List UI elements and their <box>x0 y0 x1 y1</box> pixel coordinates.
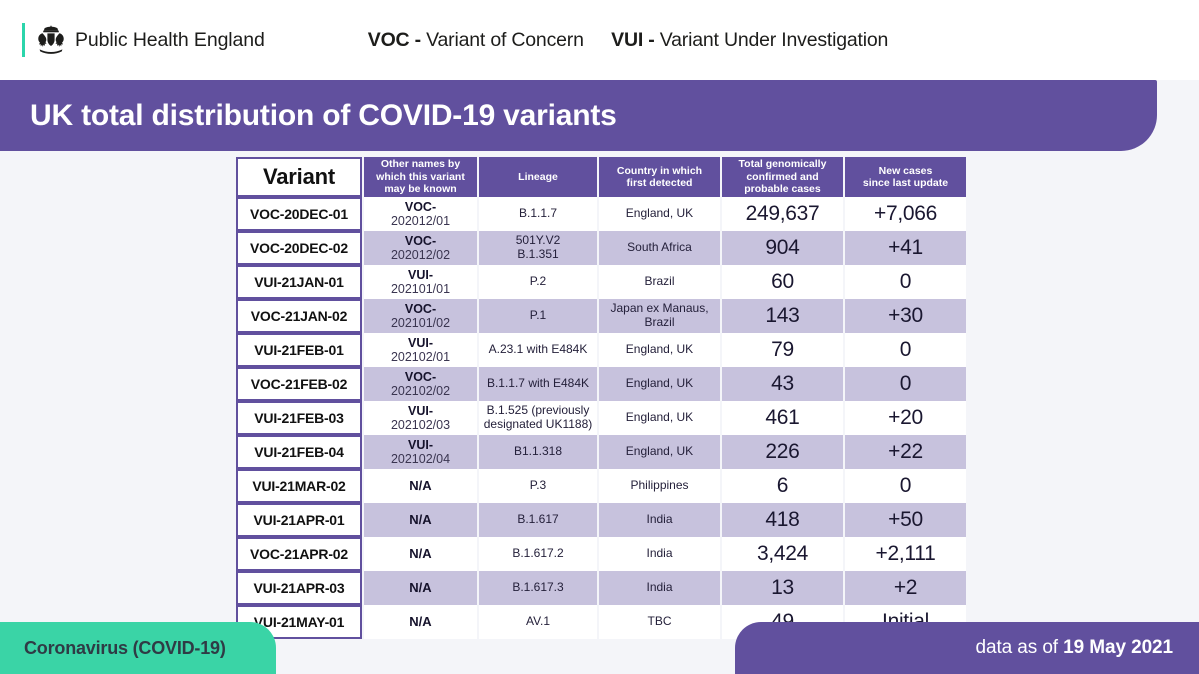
cell-new-cases: 0 <box>845 333 966 367</box>
cell-other-names: VUI-202101/01 <box>364 265 477 299</box>
cell-lineage: B.1.1.7 with E484K <box>479 367 597 401</box>
phe-logo-text: Public Health England <box>75 29 265 52</box>
other-names-suffix: 202012/02 <box>364 248 477 262</box>
other-names-prefix: VUI- <box>364 404 477 418</box>
cell-variant: VOC-21JAN-02 <box>236 299 362 333</box>
cell-variant: VUI-21APR-01 <box>236 503 362 537</box>
country-line2: first detected <box>599 177 720 189</box>
voc-definition: Variant of Concern <box>426 29 584 51</box>
cell-variant: VOC-21FEB-02 <box>236 367 362 401</box>
cell-country: England, UK <box>599 197 720 231</box>
other-names-prefix: VOC- <box>364 302 477 316</box>
cell-total-cases: 6 <box>722 469 843 503</box>
cell-lineage: P.1 <box>479 299 597 333</box>
cell-new-cases: +2 <box>845 571 966 605</box>
cell-lineage: P.3 <box>479 469 597 503</box>
cell-other-names: VOC-202102/02 <box>364 367 477 401</box>
cell-other-names: N/A <box>364 605 477 639</box>
cell-other-names: N/A <box>364 537 477 571</box>
voc-abbr: VOC - <box>368 29 421 51</box>
table-row: VOC-21APR-02N/AB.1.617.2India3,424+2,111 <box>236 537 966 571</box>
other-names-suffix: 202102/01 <box>364 350 477 364</box>
table-body: VOC-20DEC-01VOC-202012/01B.1.1.7England,… <box>236 197 966 639</box>
cell-country: India <box>599 571 720 605</box>
footer-asof-prefix: data as of <box>976 637 1064 658</box>
cell-variant: VOC-21APR-02 <box>236 537 362 571</box>
cell-lineage: B.1.525 (previouslydesignated UK1188) <box>479 401 597 435</box>
top-header-bar: Public Health England VOC - Variant of C… <box>0 0 1199 80</box>
table-row: VUI-21JAN-01VUI-202101/01P.2Brazil600 <box>236 265 966 299</box>
country-value-line1: Japan ex Manaus, <box>599 302 720 316</box>
lineage-line2: designated UK1188) <box>479 418 597 432</box>
cell-new-cases: 0 <box>845 367 966 401</box>
cell-new-cases: +30 <box>845 299 966 333</box>
column-header-variant: Variant <box>236 157 362 197</box>
table-row: VOC-21JAN-02VOC-202101/02P.1Japan ex Man… <box>236 299 966 333</box>
cell-lineage: B.1.1.7 <box>479 197 597 231</box>
cell-new-cases: +41 <box>845 231 966 265</box>
table-row: VUI-21FEB-04VUI-202102/04B1.1.318England… <box>236 435 966 469</box>
country-value-line2: Brazil <box>599 316 720 330</box>
column-header-total-cases: Total genomically confirmed and probable… <box>722 157 843 197</box>
footer-date-bar: data as of 19 May 2021 <box>735 622 1199 674</box>
cell-variant: VUI-21FEB-01 <box>236 333 362 367</box>
cell-new-cases: 0 <box>845 265 966 299</box>
table-row: VUI-21MAR-02N/AP.3Philippines60 <box>236 469 966 503</box>
total-line1: Total genomically <box>722 158 843 170</box>
variants-table-container: Variant Other names by which this varian… <box>234 157 964 639</box>
other-names-suffix: 202012/01 <box>364 214 477 228</box>
total-line2: confirmed and <box>722 171 843 183</box>
cell-variant: VUI-21JAN-01 <box>236 265 362 299</box>
cell-variant: VOC-20DEC-02 <box>236 231 362 265</box>
other-names-suffix: 202101/02 <box>364 316 477 330</box>
cell-lineage: AV.1 <box>479 605 597 639</box>
cell-total-cases: 3,424 <box>722 537 843 571</box>
cell-other-names: VUI-202102/01 <box>364 333 477 367</box>
cell-lineage: A.23.1 with E484K <box>479 333 597 367</box>
lineage-line1: B.1.525 (previously <box>479 404 597 418</box>
cell-lineage: B.1.617.2 <box>479 537 597 571</box>
footer-data-as-of: data as of 19 May 2021 <box>976 637 1173 659</box>
other-names-prefix: VOC- <box>364 200 477 214</box>
cell-country: Japan ex Manaus,Brazil <box>599 299 720 333</box>
table-row: VOC-20DEC-01VOC-202012/01B.1.1.7England,… <box>236 197 966 231</box>
cell-lineage: P.2 <box>479 265 597 299</box>
royal-crest-icon <box>36 24 66 56</box>
cell-country: South Africa <box>599 231 720 265</box>
lineage-line2: B.1.351 <box>479 248 597 262</box>
footer-coronavirus-label: Coronavirus (COVID-19) <box>24 638 226 659</box>
column-header-other-names: Other names by which this variant may be… <box>364 157 477 197</box>
table-row: VOC-21FEB-02VOC-202102/02B.1.1.7 with E4… <box>236 367 966 401</box>
logo-teal-rule <box>22 23 25 57</box>
cell-variant: VUI-21MAR-02 <box>236 469 362 503</box>
cell-new-cases: +7,066 <box>845 197 966 231</box>
cell-new-cases: 0 <box>845 469 966 503</box>
cell-total-cases: 904 <box>722 231 843 265</box>
vui-abbr: VUI - <box>611 29 654 51</box>
cell-lineage: B1.1.318 <box>479 435 597 469</box>
table-row: VUI-21FEB-03VUI-202102/03B.1.525 (previo… <box>236 401 966 435</box>
table-header-row: Variant Other names by which this varian… <box>236 157 966 197</box>
cell-country: England, UK <box>599 367 720 401</box>
cell-variant: VOC-20DEC-01 <box>236 197 362 231</box>
other-names-suffix: 202101/01 <box>364 282 477 296</box>
vui-definition: Variant Under Investigation <box>660 29 888 51</box>
cell-other-names: VOC-202012/01 <box>364 197 477 231</box>
other-names-prefix: VOC- <box>364 234 477 248</box>
cell-country: TBC <box>599 605 720 639</box>
cell-country: India <box>599 503 720 537</box>
cell-other-names: VOC-202012/02 <box>364 231 477 265</box>
cell-country: Brazil <box>599 265 720 299</box>
phe-logo: Public Health England <box>22 20 265 60</box>
other-names-prefix: VUI- <box>364 438 477 452</box>
footer-asof-date: 19 May 2021 <box>1063 637 1173 658</box>
cell-other-names: N/A <box>364 503 477 537</box>
cell-total-cases: 43 <box>722 367 843 401</box>
cell-country: India <box>599 537 720 571</box>
cell-country: Philippines <box>599 469 720 503</box>
column-header-new-cases: New cases since last update <box>845 157 966 197</box>
cell-other-names: VOC-202101/02 <box>364 299 477 333</box>
lineage-line1: 501Y.V2 <box>479 234 597 248</box>
table-row: VUI-21FEB-01VUI-202102/01A.23.1 with E48… <box>236 333 966 367</box>
cell-variant: VUI-21APR-03 <box>236 571 362 605</box>
cell-lineage: 501Y.V2B.1.351 <box>479 231 597 265</box>
total-line3: probable cases <box>722 183 843 195</box>
cell-total-cases: 79 <box>722 333 843 367</box>
cell-total-cases: 13 <box>722 571 843 605</box>
cell-new-cases: +50 <box>845 503 966 537</box>
other-names-line3: may be known <box>364 183 477 195</box>
country-line1: Country in which <box>599 165 720 177</box>
cell-lineage: B.1.617.3 <box>479 571 597 605</box>
cell-total-cases: 226 <box>722 435 843 469</box>
other-names-suffix: 202102/03 <box>364 418 477 432</box>
cell-total-cases: 418 <box>722 503 843 537</box>
other-names-suffix: 202102/02 <box>364 384 477 398</box>
other-names-prefix: VOC- <box>364 370 477 384</box>
other-names-line1: Other names by <box>364 158 477 170</box>
column-header-lineage: Lineage <box>479 157 597 197</box>
cell-total-cases: 461 <box>722 401 843 435</box>
cell-other-names: VUI-202102/04 <box>364 435 477 469</box>
footer-coronavirus-tag: Coronavirus (COVID-19) <box>0 622 276 674</box>
cell-total-cases: 143 <box>722 299 843 333</box>
new-cases-line1: New cases <box>845 165 966 177</box>
variants-table: Variant Other names by which this varian… <box>234 157 968 639</box>
page-title-banner: UK total distribution of COVID-19 varian… <box>0 80 1157 151</box>
cell-other-names: VUI-202102/03 <box>364 401 477 435</box>
cell-variant: VUI-21FEB-03 <box>236 401 362 435</box>
new-cases-line2: since last update <box>845 177 966 189</box>
cell-country: England, UK <box>599 435 720 469</box>
cell-other-names: N/A <box>364 571 477 605</box>
cell-country: England, UK <box>599 333 720 367</box>
table-row: VOC-20DEC-02VOC-202012/02501Y.V2B.1.351S… <box>236 231 966 265</box>
cell-variant: VUI-21FEB-04 <box>236 435 362 469</box>
other-names-prefix: VUI- <box>364 336 477 350</box>
other-names-prefix: VUI- <box>364 268 477 282</box>
other-names-suffix: 202102/04 <box>364 452 477 466</box>
cell-lineage: B.1.617 <box>479 503 597 537</box>
page-title: UK total distribution of COVID-19 varian… <box>30 99 617 133</box>
cell-other-names: N/A <box>364 469 477 503</box>
table-row: VUI-21APR-01N/AB.1.617India418+50 <box>236 503 966 537</box>
cell-country: England, UK <box>599 401 720 435</box>
cell-new-cases: +20 <box>845 401 966 435</box>
cell-new-cases: +22 <box>845 435 966 469</box>
table-header: Variant Other names by which this varian… <box>236 157 966 197</box>
cell-total-cases: 60 <box>722 265 843 299</box>
other-names-line2: which this variant <box>364 171 477 183</box>
cell-total-cases: 249,637 <box>722 197 843 231</box>
variant-legend: VOC - Variant of Concern VUI - Variant U… <box>368 29 888 52</box>
table-row: VUI-21APR-03N/AB.1.617.3India13+2 <box>236 571 966 605</box>
column-header-country: Country in which first detected <box>599 157 720 197</box>
cell-new-cases: +2,111 <box>845 537 966 571</box>
